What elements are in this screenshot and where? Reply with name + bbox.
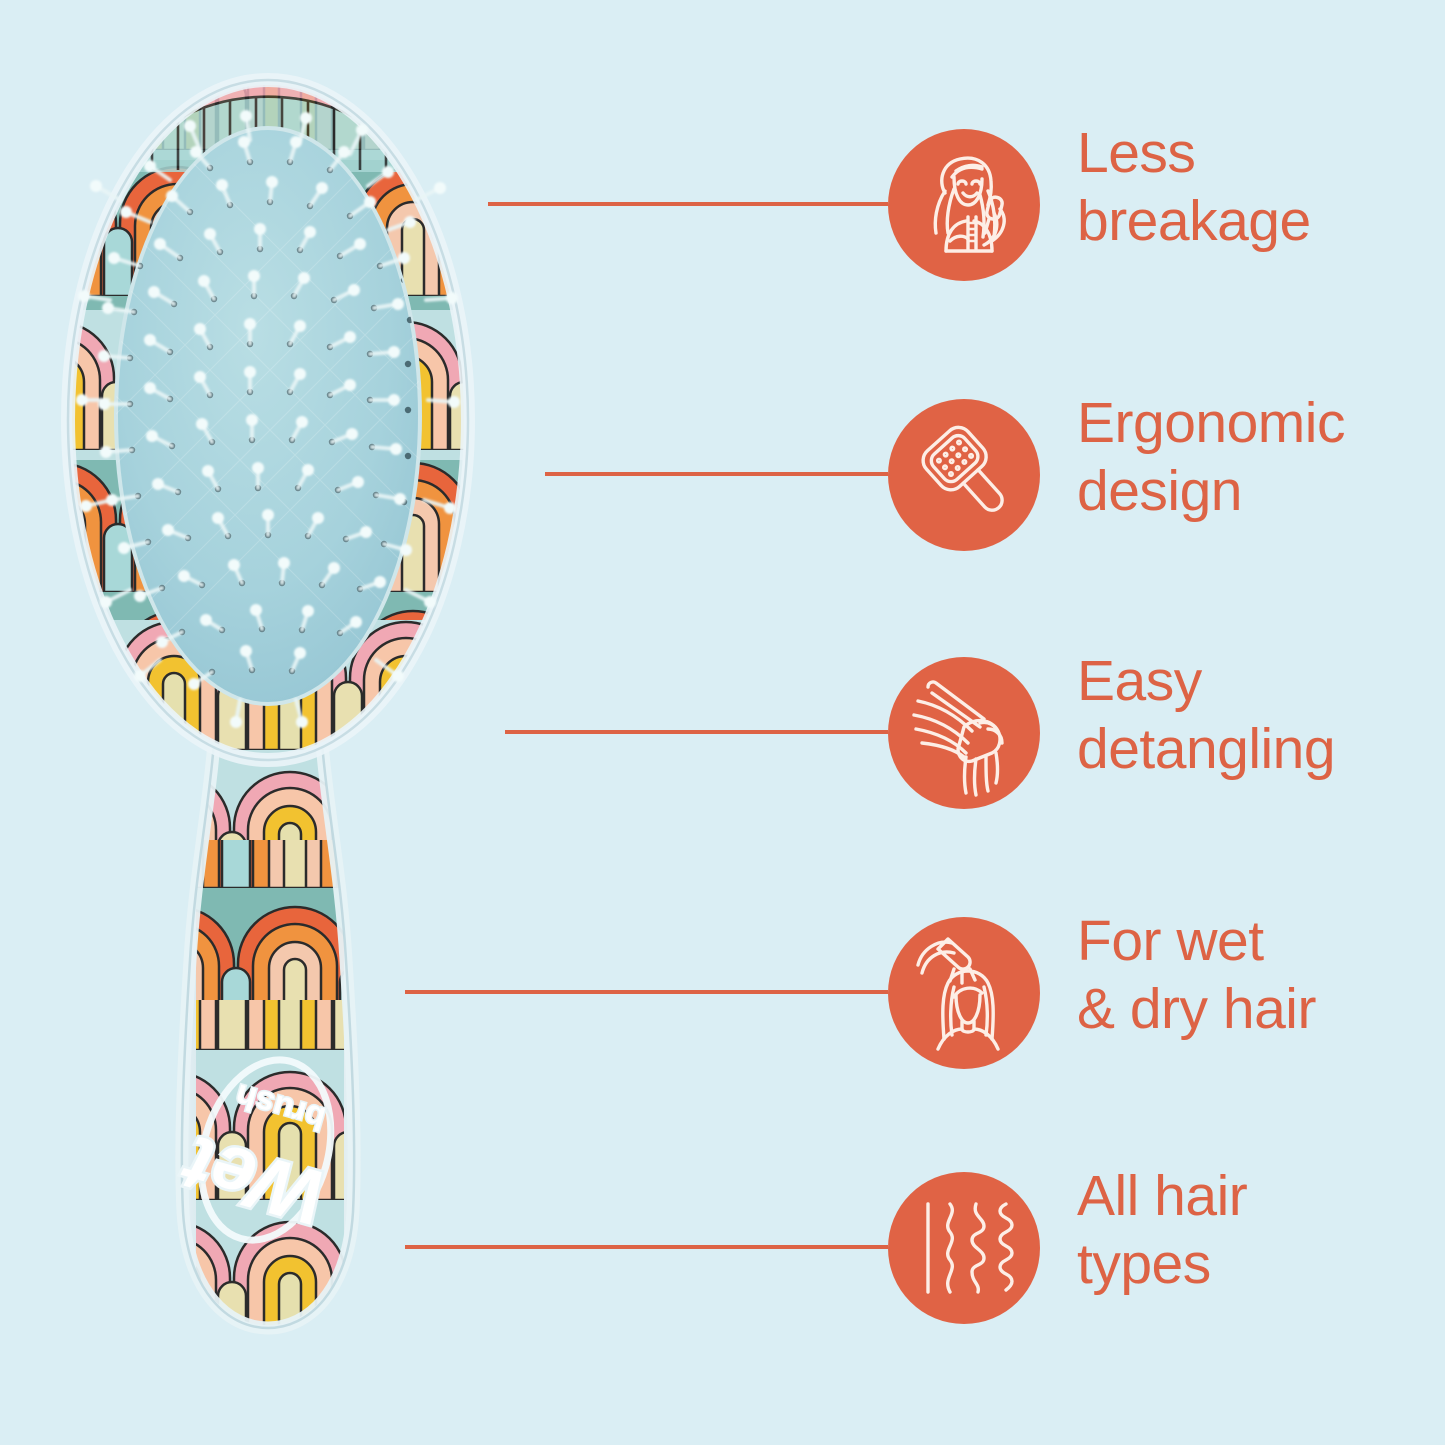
feature-less-breakage: Less breakage [380,125,1445,285]
connector-line [545,472,888,476]
connector-line [488,202,888,206]
feature-label: All hair types [1077,1162,1445,1298]
feature-ergonomic-design: Ergonomic design [380,395,1445,555]
feature-easy-detangling: Easy detangling [380,653,1445,813]
feature-icon-badge [888,917,1040,1069]
feature-icon-badge [888,657,1040,809]
feature-for-wet-and-dry-hair: For wet & dry hair [380,913,1445,1073]
feature-icon-badge [888,399,1040,551]
brush-handle [150,690,390,1340]
feature-label: Less breakage [1077,119,1445,255]
shower-head-over-head-icon [888,917,1040,1069]
feature-icon-badge [888,129,1040,281]
feature-label: Ergonomic design [1077,389,1445,525]
hair-textures-icon [888,1172,1040,1324]
woman-brushing-hair-icon [888,129,1040,281]
feature-all-hair-types: All hair types [380,1168,1445,1328]
infographic-canvas: Wet brush [0,0,1445,1445]
connector-line [405,1245,888,1249]
connector-line [405,990,888,994]
connector-line [505,730,888,734]
hand-detangling-hair-icon [888,657,1040,809]
feature-label: For wet & dry hair [1077,907,1445,1043]
feature-label: Easy detangling [1077,647,1445,783]
feature-icon-badge [888,1172,1040,1324]
paddle-brush-icon [888,399,1040,551]
